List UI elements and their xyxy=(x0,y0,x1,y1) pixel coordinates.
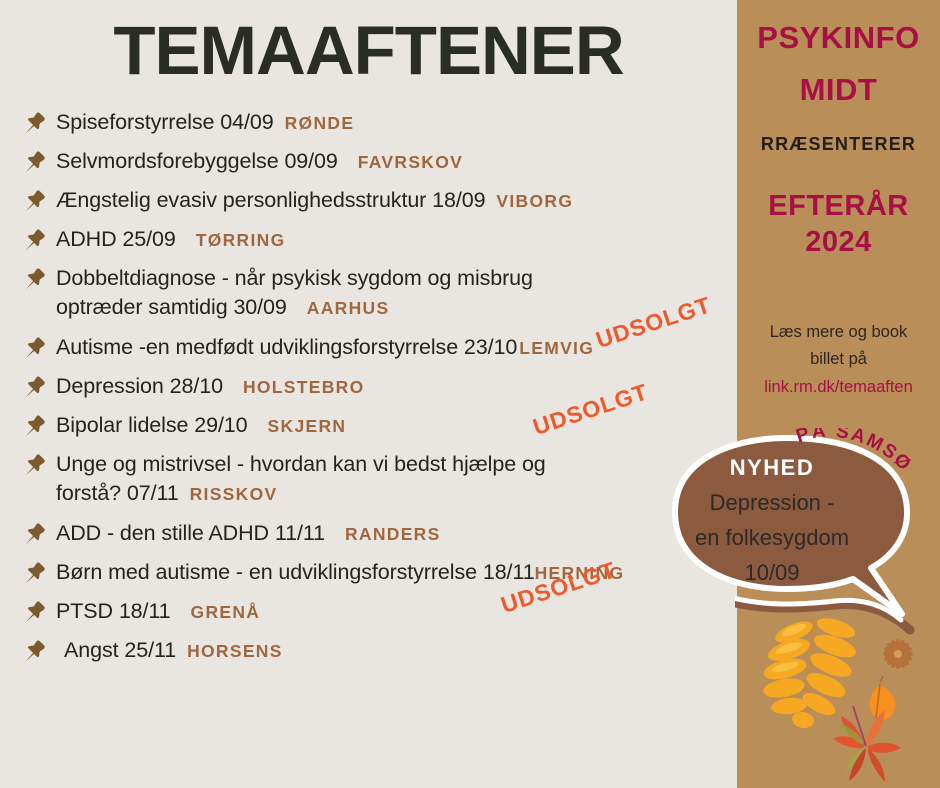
season-label: EFTERÅR xyxy=(737,190,940,223)
event-title: Dobbeltdiagnose - når psykisk sygdom og … xyxy=(56,264,556,321)
pushpin-icon xyxy=(22,599,48,625)
news-speech-bubble: NYHED Depression - en folkesygdom 10/09 xyxy=(657,432,927,622)
event-city: RØNDE xyxy=(285,113,355,133)
news-badge: NYHED xyxy=(657,455,887,481)
pushpin-icon xyxy=(22,452,48,478)
list-item[interactable]: Unge og mistrivsel - hvordan kan vi beds… xyxy=(22,450,737,510)
event-city: SKJERN xyxy=(268,416,347,436)
pushpin-icon xyxy=(22,266,48,292)
event-city: GRENÅ xyxy=(191,602,261,622)
pushpin-icon xyxy=(22,413,48,439)
event-title: PTSD 18/11GRENÅ xyxy=(56,597,260,626)
brand-line-2: MIDT xyxy=(737,74,940,107)
pushpin-icon xyxy=(22,335,48,361)
bubble-line-2: en folkesygdom xyxy=(657,525,887,551)
event-city: RISSKOV xyxy=(190,484,278,504)
event-city: VIBORG xyxy=(496,191,573,211)
pushpin-icon xyxy=(22,188,48,214)
bubble-line-1: Depression - xyxy=(657,490,887,516)
bubble-line-3: 10/09 xyxy=(657,560,887,586)
brand-line-1: PSYKINFO xyxy=(737,22,940,55)
page-title: TEMAAFTENER xyxy=(0,11,737,90)
list-item[interactable]: Bipolar lidelse 29/10SKJERN xyxy=(22,411,737,441)
event-title: Unge og mistrivsel - hvordan kan vi beds… xyxy=(56,450,596,507)
pushpin-icon xyxy=(22,638,48,664)
poster-canvas: PSYKINFO MIDT RRÆSENTERER EFTERÅR 2024 L… xyxy=(0,0,940,788)
list-item[interactable]: Børn med autisme - en udviklingsforstyrr… xyxy=(22,558,737,588)
event-title: Depression 28/10HOLSTEBRO xyxy=(56,372,365,401)
event-title: Selvmordsforebyggelse 09/09FAVRSKOV xyxy=(56,147,463,176)
list-item[interactable]: Spiseforstyrrelse 04/09RØNDE xyxy=(22,108,737,138)
pushpin-icon xyxy=(22,521,48,547)
event-city: HORSENS xyxy=(187,641,283,661)
presenterer-label: RRÆSENTERER xyxy=(737,134,940,155)
event-title: Angst 25/11HORSENS xyxy=(64,636,283,665)
list-item[interactable]: ADHD 25/09TØRRING xyxy=(22,225,737,255)
list-item[interactable]: Angst 25/11HORSENS xyxy=(22,636,737,666)
event-title: ADHD 25/09TØRRING xyxy=(56,225,286,254)
list-item[interactable]: ADD - den stille ADHD 11/11RANDERS xyxy=(22,519,737,549)
event-title: ADD - den stille ADHD 11/11RANDERS xyxy=(56,519,441,548)
event-city: AARHUS xyxy=(307,298,390,318)
side-panel: PSYKINFO MIDT RRÆSENTERER EFTERÅR 2024 L… xyxy=(737,0,940,788)
pushpin-icon xyxy=(22,149,48,175)
event-city: FAVRSKOV xyxy=(358,152,463,172)
event-city: LEMVIG xyxy=(519,338,594,358)
event-title: Ængstelig evasiv personlighedsstruktur 1… xyxy=(56,186,573,215)
pushpin-icon xyxy=(22,560,48,586)
event-title: Autisme -en medfødt udviklingsforstyrrel… xyxy=(56,333,594,362)
booking-line-2: billet på xyxy=(737,350,940,369)
event-city: RANDERS xyxy=(345,524,441,544)
season-year-label: 2024 xyxy=(737,226,940,259)
booking-url-link[interactable]: link.rm.dk/temaaften xyxy=(737,378,940,397)
event-city: HOLSTEBRO xyxy=(243,377,365,397)
pushpin-icon xyxy=(22,227,48,253)
list-item[interactable]: Selvmordsforebyggelse 09/09FAVRSKOV xyxy=(22,147,737,177)
list-item[interactable]: Ængstelig evasiv personlighedsstruktur 1… xyxy=(22,186,737,216)
event-title: Bipolar lidelse 29/10SKJERN xyxy=(56,411,346,440)
list-item[interactable]: PTSD 18/11GRENÅ xyxy=(22,597,737,627)
event-city: TØRRING xyxy=(196,230,286,250)
pushpin-icon xyxy=(22,110,48,136)
event-title: Spiseforstyrrelse 04/09RØNDE xyxy=(56,108,354,137)
booking-line-1: Læs mere og book xyxy=(737,323,940,342)
pushpin-icon xyxy=(22,374,48,400)
